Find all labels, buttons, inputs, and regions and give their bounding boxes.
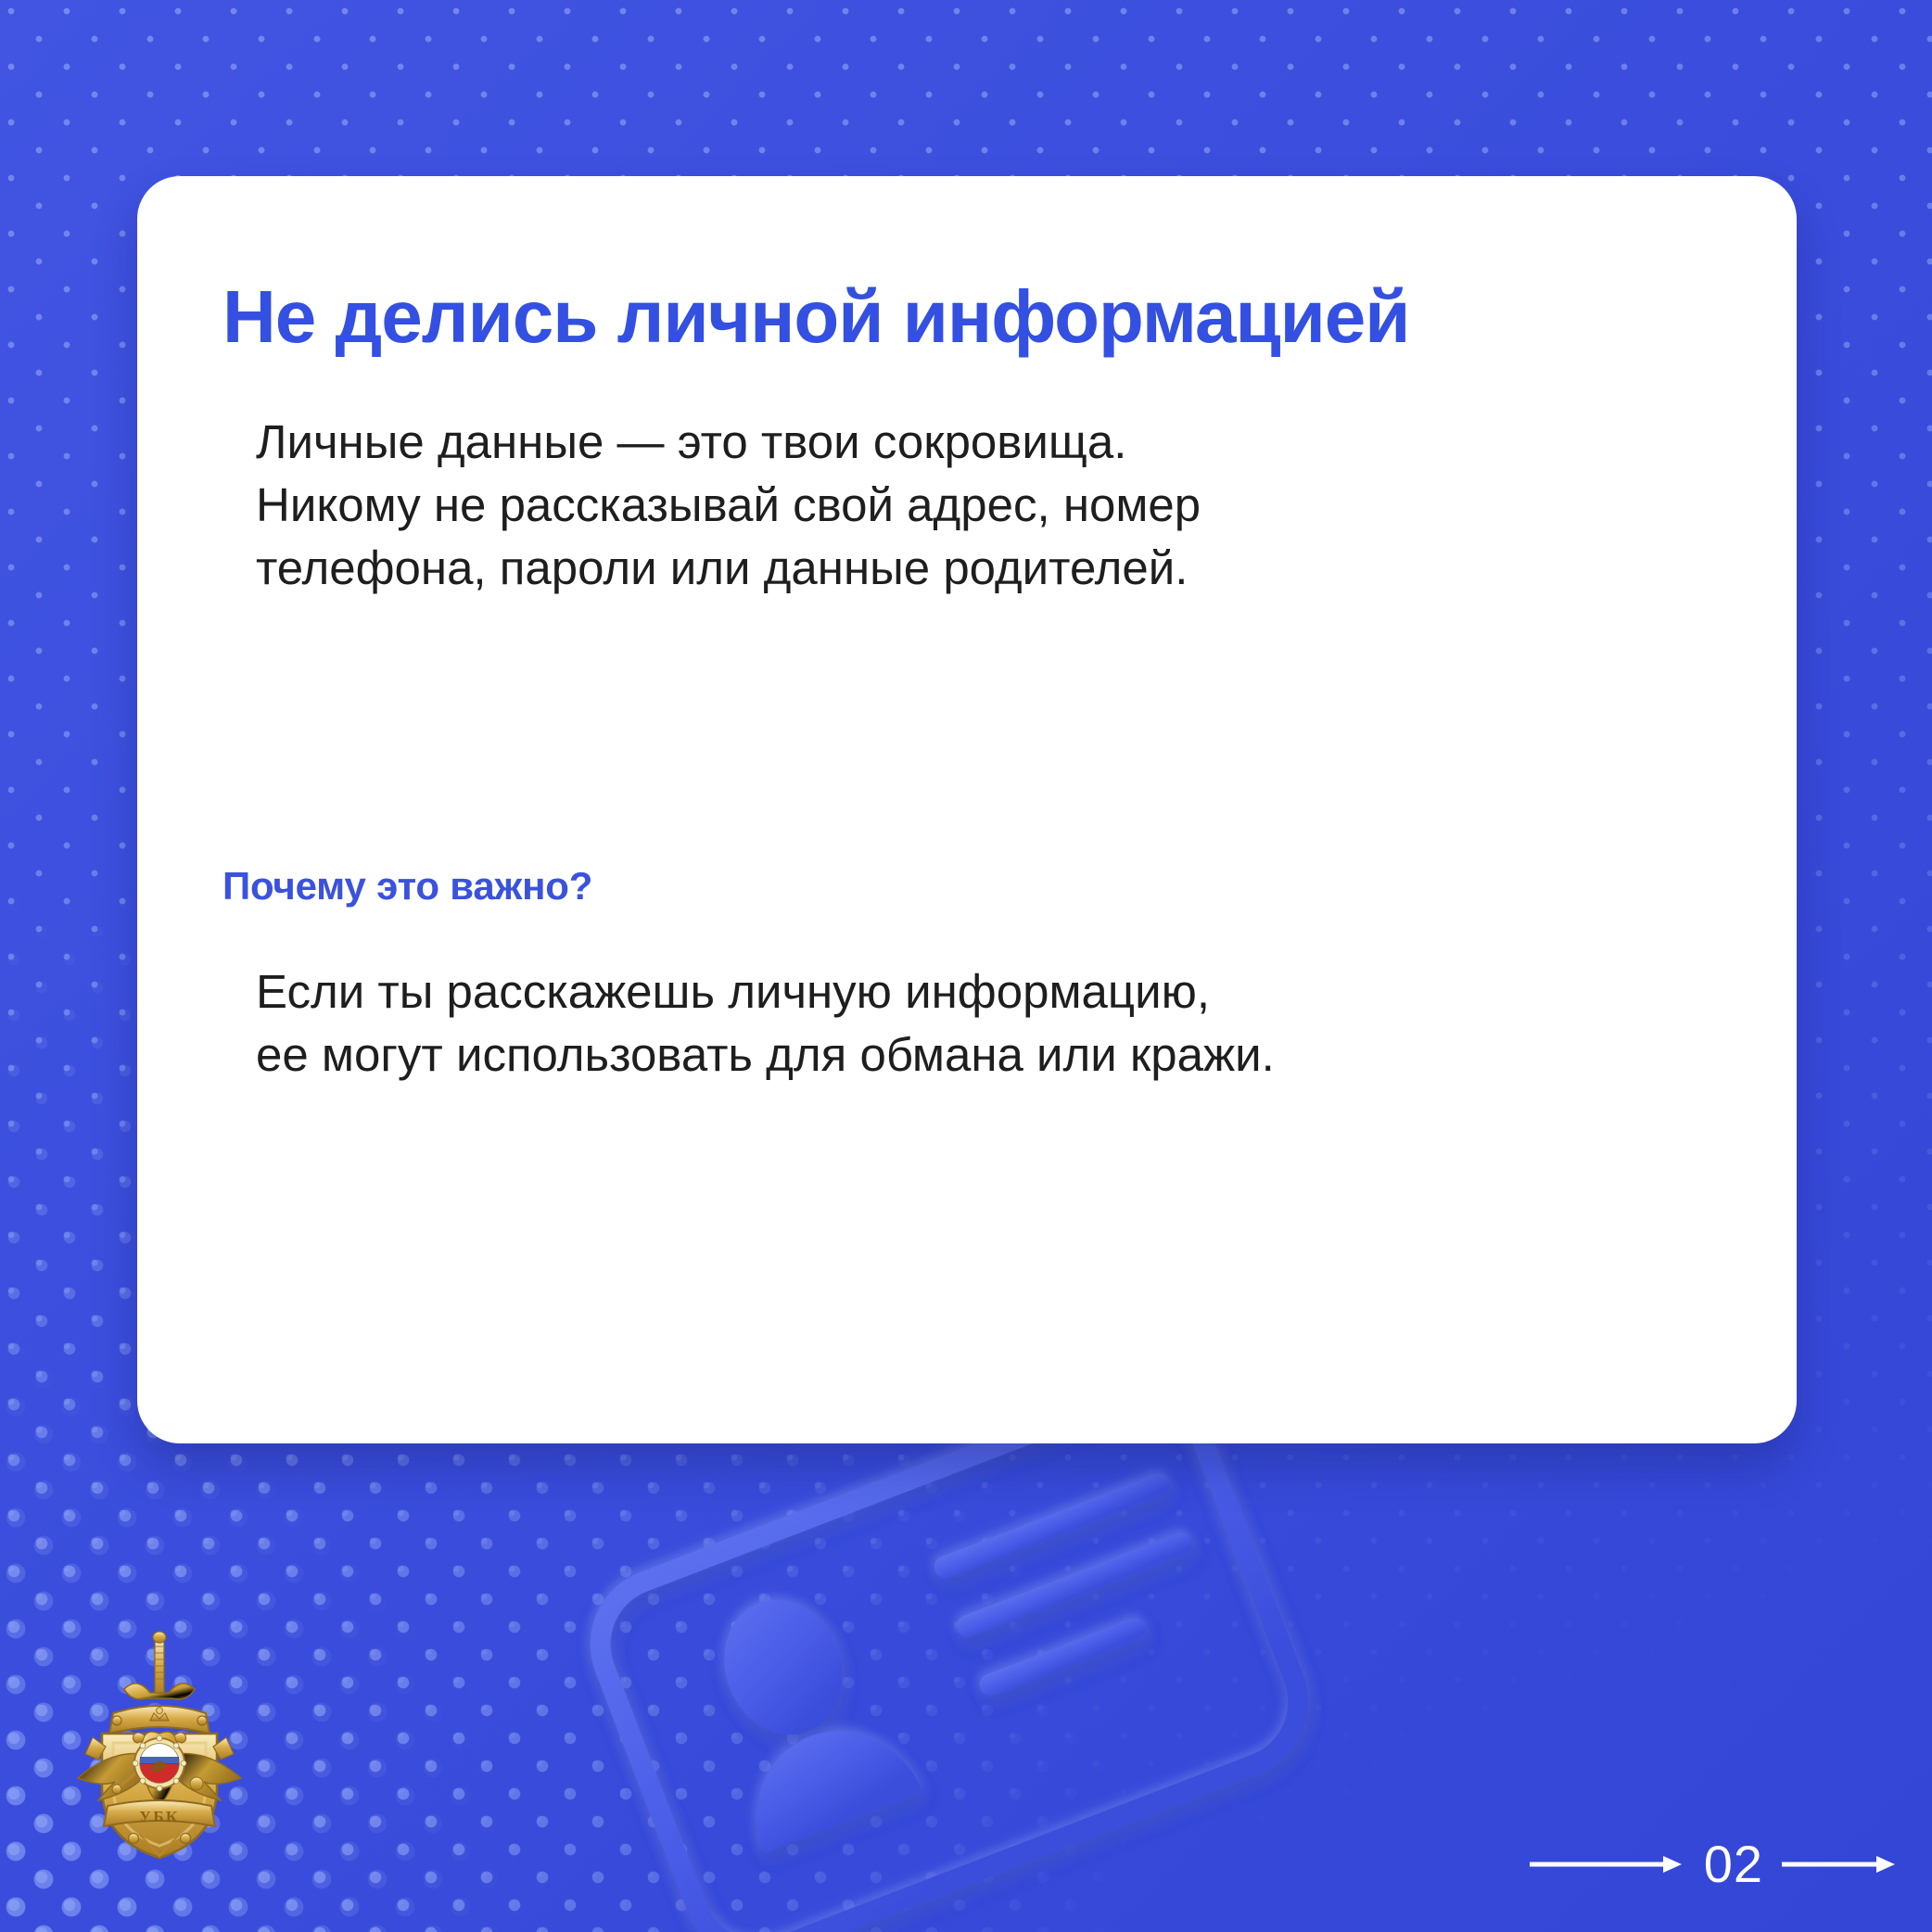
body-paragraph-secondary: Если ты расскажешь личную информацию, ее… <box>256 960 1702 1087</box>
subheading-why-important: Почему это важно? <box>222 864 592 909</box>
ubk-badge-emblem: УБК <box>57 1624 261 1867</box>
page-indicator: 02 <box>1528 1832 1899 1897</box>
arrow-right-icon <box>1528 1852 1687 1876</box>
badge-sword <box>124 1632 195 1699</box>
page-title: Не делись личной информацией <box>222 278 1743 356</box>
page-number: 02 <box>1704 1838 1763 1890</box>
badge-medallion <box>133 1735 186 1791</box>
body-paragraph: Личные данные — это твои сокровища. Нико… <box>256 411 1665 599</box>
arrow-right-icon <box>1780 1852 1899 1876</box>
content-card: Не делись личной информацией Личные данн… <box>137 176 1797 1443</box>
slide-root: Не делись личной информацией Личные данн… <box>0 0 1932 1932</box>
badge-banner-text: УБК <box>139 1808 180 1825</box>
